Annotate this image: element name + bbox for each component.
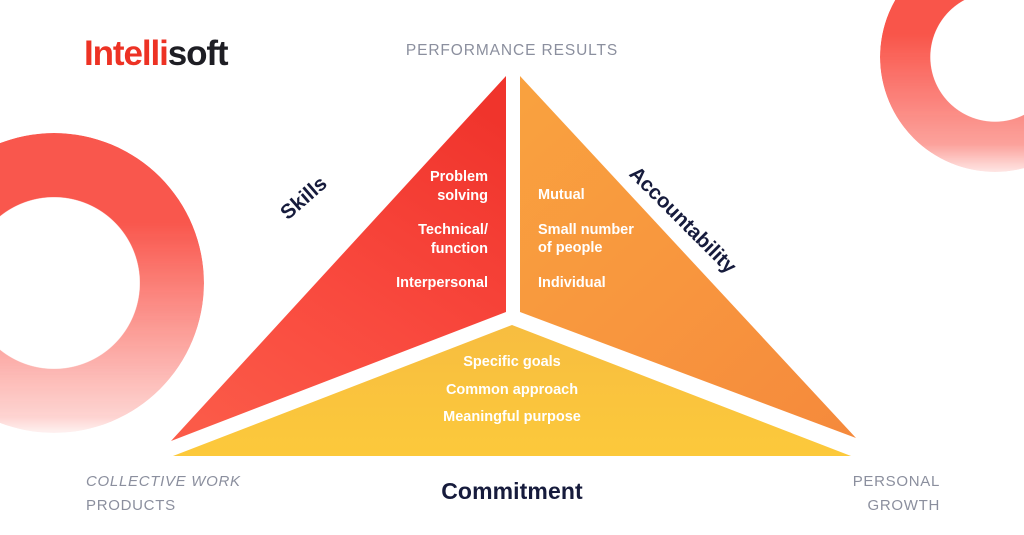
panel-items-commitment: Specific goals Common approach Meaningfu… <box>352 353 672 436</box>
list-item: Mutual <box>538 186 678 205</box>
apex-label-performance-results: PERFORMANCE RESULTS <box>0 42 1024 60</box>
list-item: Individual <box>538 274 678 293</box>
panel-items-skills: Problem solving Technical/ function Inte… <box>368 168 488 293</box>
corner-label-line-2: GROWTH <box>853 494 940 518</box>
infographic-canvas: Intellisoft PERFORMANCE RESUL <box>0 0 1024 535</box>
triangle-diagram-shapes <box>0 0 1024 535</box>
corner-label-line-1: PERSONAL <box>853 470 940 494</box>
list-item: Small number of people <box>538 221 678 258</box>
corner-label-line-1: COLLECTIVE WORK <box>86 470 241 494</box>
list-item: Technical/ function <box>368 221 488 258</box>
corner-label-personal-growth: PERSONAL GROWTH <box>853 470 940 518</box>
list-item: Specific goals <box>352 353 672 372</box>
list-item: Common approach <box>352 381 672 400</box>
list-item: Problem solving <box>368 168 488 205</box>
corner-label-line-2: PRODUCTS <box>86 494 241 518</box>
panel-items-accountability: Mutual Small number of people Individual <box>538 186 678 292</box>
corner-label-collective-work-products: COLLECTIVE WORK PRODUCTS <box>86 470 241 518</box>
list-item: Meaningful purpose <box>352 408 672 427</box>
list-item: Interpersonal <box>368 274 488 293</box>
